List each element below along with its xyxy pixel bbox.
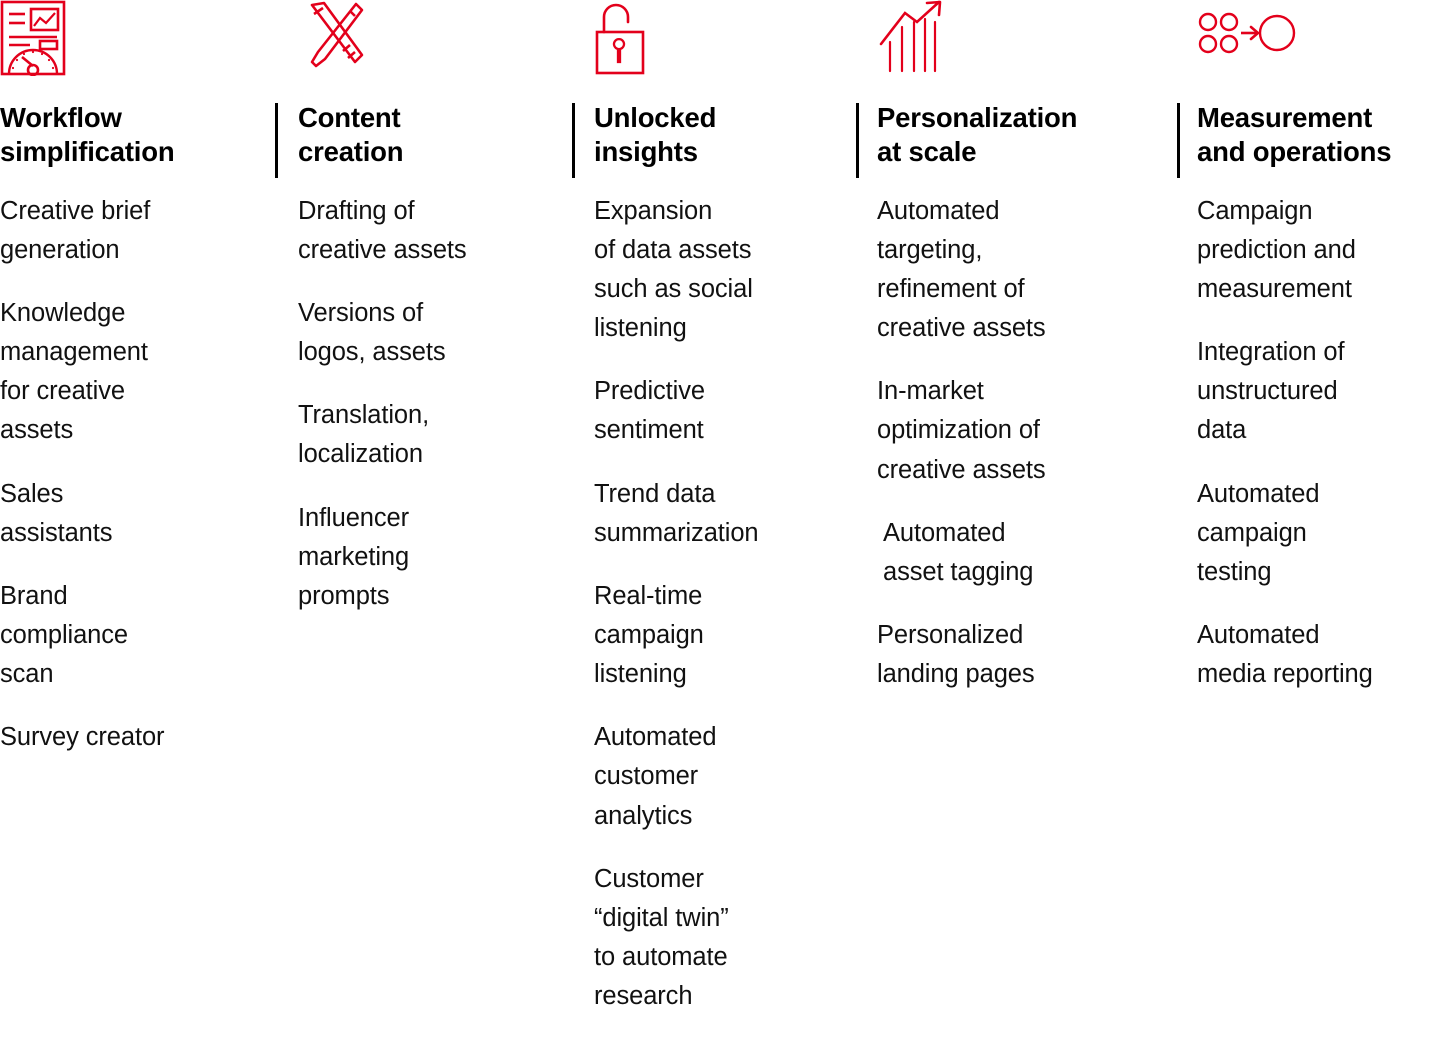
list-item: Automated media reporting [1197, 616, 1440, 694]
column-divider [856, 103, 859, 178]
column-unlocked-insights: Unlocked insights Expansion of data asse… [594, 0, 849, 1040]
list-item: In-market optimization of creative asset… [877, 372, 1167, 489]
open-padlock-icon [594, 0, 849, 88]
pencil-paintbrush-icon [298, 0, 564, 88]
list-item: Knowledge management for creative assets [0, 294, 268, 451]
list-item: Predictive sentiment [594, 372, 849, 450]
column-heading: Unlocked insights [594, 101, 849, 170]
capability-list: Campaign prediction and measurement Inte… [1197, 192, 1440, 695]
column-heading: Personalization at scale [877, 101, 1167, 170]
column-heading: Measurement and operations [1197, 101, 1440, 170]
list-item: Personalized landing pages [877, 616, 1167, 694]
capability-list: Expansion of data assets such as social … [594, 192, 849, 1017]
list-item: Automated asset tagging [877, 514, 1167, 592]
list-item: Sales assistants [0, 475, 268, 553]
list-item: Expansion of data assets such as social … [594, 192, 849, 349]
report-dashboard-icon [0, 0, 268, 88]
column-measurement-and-operations: Measurement and operations Campaign pred… [1197, 0, 1440, 718]
list-item: Automated customer analytics [594, 718, 849, 835]
list-item: Customer “digital twin” to automate rese… [594, 860, 849, 1017]
list-item: Survey creator [0, 718, 268, 757]
list-item: Automated targeting, refinement of creat… [877, 192, 1167, 349]
list-item: Influencer marketing prompts [298, 499, 564, 616]
list-item: Automated campaign testing [1197, 475, 1440, 592]
column-workflow-simplification: Workflow simplification Creative brief g… [0, 0, 268, 781]
list-item: Integration of unstructured data [1197, 333, 1440, 450]
column-heading: Workflow simplification [0, 101, 268, 170]
capability-list: Creative brief generation Knowledge mana… [0, 192, 268, 758]
list-item: Drafting of creative assets [298, 192, 564, 270]
column-divider [275, 103, 278, 178]
list-item: Brand compliance scan [0, 577, 268, 694]
list-item: Trend data summarization [594, 475, 849, 553]
column-content-creation: Content creation Drafting of creative as… [298, 0, 564, 640]
list-item: Translation, localization [298, 396, 564, 474]
column-heading: Content creation [298, 101, 564, 170]
column-divider [572, 103, 575, 178]
capability-list: Automated targeting, refinement of creat… [877, 192, 1167, 695]
list-item: Campaign prediction and measurement [1197, 192, 1440, 309]
list-item: Versions of logos, assets [298, 294, 564, 372]
list-item: Creative brief generation [0, 192, 268, 270]
column-divider [1177, 103, 1180, 178]
list-item: Real-time campaign listening [594, 577, 849, 694]
column-personalization-at-scale: Personalization at scale Automated targe… [877, 0, 1167, 718]
capability-matrix: Workflow simplification Creative brief g… [0, 0, 1440, 1013]
capability-list: Drafting of creative assets Versions of … [298, 192, 564, 616]
consolidation-circles-arrow-icon [1197, 0, 1440, 88]
growth-chart-arrow-icon [877, 0, 1167, 88]
